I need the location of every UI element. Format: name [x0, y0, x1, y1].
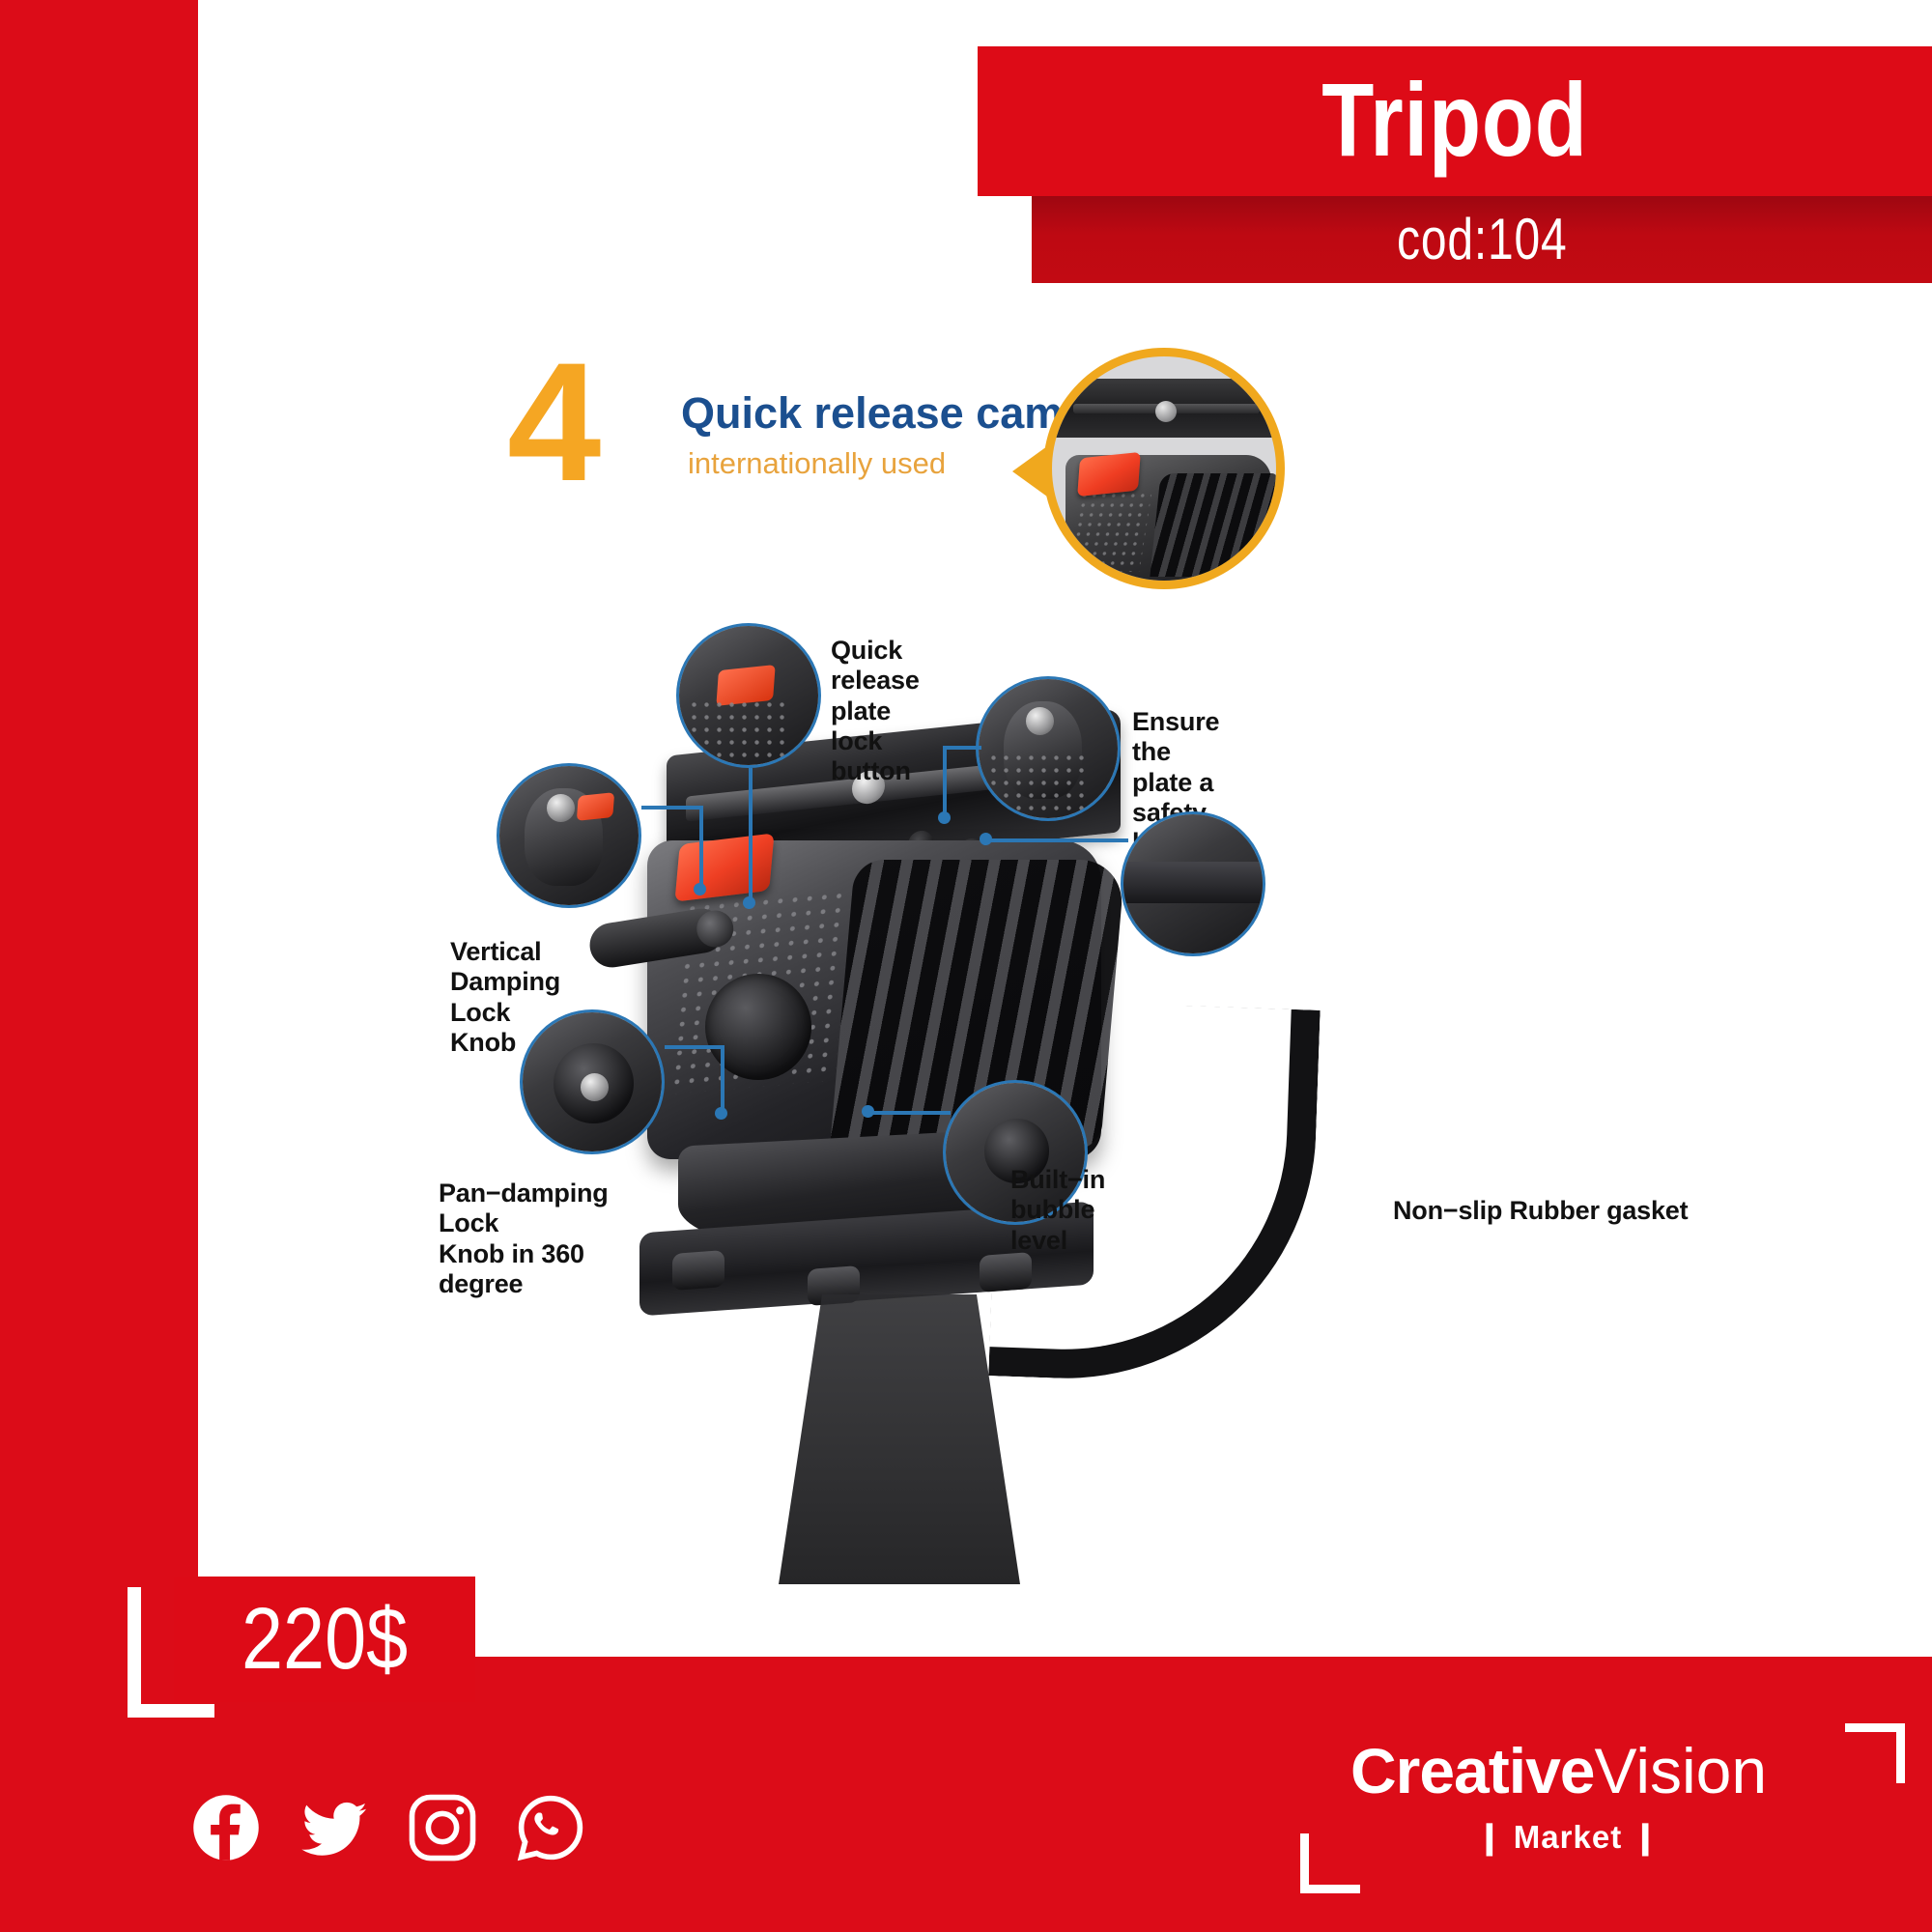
- whatsapp-icon[interactable]: [516, 1793, 585, 1862]
- leader-endpoint: [938, 811, 951, 824]
- instagram-icon[interactable]: [408, 1793, 477, 1862]
- social-links: [191, 1793, 585, 1862]
- logo-name: CreativeVision: [1350, 1739, 1891, 1803]
- logo-bracket-bottom-left: [1300, 1833, 1360, 1893]
- callout-label-built-in-bubble-level: Built−in bubble level: [1010, 1165, 1105, 1256]
- product-illustration: 4 Quick release camera plate internation…: [406, 328, 1739, 1594]
- price-value: 220$: [241, 1596, 408, 1683]
- product-title-banner: Tripod: [978, 46, 1932, 196]
- product-code: cod:104: [1032, 211, 1932, 269]
- logo-name-light: Vision: [1595, 1735, 1768, 1806]
- quick-release-plate-inset: [1043, 348, 1285, 589]
- leader-endpoint: [980, 833, 992, 845]
- callout-bubble-vertical-damping: [497, 763, 641, 908]
- twitter-icon[interactable]: [299, 1793, 369, 1862]
- leader-endpoint: [694, 883, 706, 895]
- logo-bracket-top-right: [1845, 1723, 1905, 1783]
- callout-bubble-rubber-gasket: [1121, 811, 1265, 956]
- feature-subtitle: internationally used: [688, 446, 946, 481]
- leader-line: [699, 806, 703, 889]
- logo-tagline: ❙ Market ❙: [1350, 1818, 1891, 1856]
- leader-line: [721, 1045, 724, 1113]
- price-badge: 220$: [174, 1577, 475, 1702]
- price-value-wrap: 220$: [174, 1596, 475, 1683]
- brand-logo: CreativeVision ❙ Market ❙: [1350, 1739, 1891, 1903]
- callout-bubble-pan-damping: [520, 1009, 665, 1154]
- feature-header: 4 Quick release camera plate internation…: [502, 338, 1430, 531]
- leader-line: [749, 768, 753, 903]
- leader-line: [943, 746, 947, 817]
- quick-release-red-button: [674, 833, 774, 901]
- inset-pointer-arrow: [1012, 446, 1047, 497]
- callout-label-quick-release-plate-lock-button: Quick release plate lock button: [831, 636, 920, 787]
- callout-bubble-quick-release: [676, 623, 821, 768]
- facebook-icon[interactable]: [191, 1793, 261, 1862]
- callout-label-non-slip-rubber-gasket: Non−slip Rubber gasket: [1393, 1196, 1688, 1226]
- leader-line: [947, 746, 981, 750]
- callout-bubble-safety-lock: [976, 676, 1121, 821]
- tripod-leg: [779, 1294, 1020, 1584]
- leader-endpoint: [715, 1107, 727, 1120]
- page-title: Tripod: [978, 67, 1932, 171]
- product-code-banner: cod:104: [1032, 196, 1932, 283]
- logo-name-bold: Creative: [1350, 1735, 1595, 1806]
- leader-line: [665, 1045, 724, 1049]
- leader-line: [985, 838, 1128, 842]
- leader-line: [867, 1111, 951, 1115]
- product-poster: Tripod cod:104 4 Quick release camera pl…: [0, 0, 1932, 1932]
- callout-label-pan-damping-lock-knob: Pan−damping Lock Knob in 360 degree: [439, 1179, 609, 1299]
- product-title-text: Tripod: [1321, 67, 1587, 171]
- leader-endpoint: [862, 1105, 874, 1118]
- leader-line: [641, 806, 703, 810]
- feature-number: 4: [507, 338, 601, 507]
- product-code-text: cod:104: [1397, 211, 1567, 269]
- leader-endpoint: [743, 896, 755, 909]
